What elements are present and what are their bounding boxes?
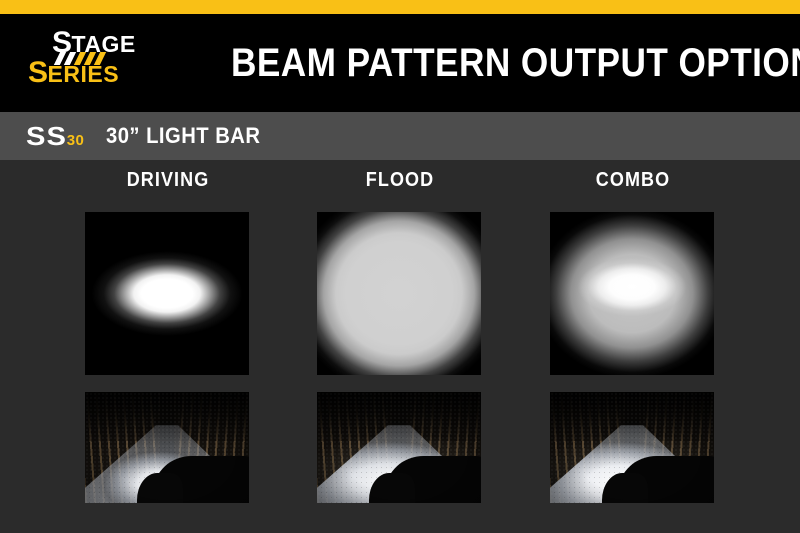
column-label-flood: FLOOD	[325, 170, 474, 190]
road-scene	[85, 392, 249, 503]
road-scene	[550, 392, 714, 503]
model-description: 30” LIGHT BAR	[106, 125, 260, 147]
model-badge: SS 30	[26, 123, 84, 149]
logo-series-capital: S	[28, 58, 48, 88]
road-scene	[317, 392, 481, 503]
model-number: 30	[67, 133, 85, 148]
photo-vignette	[550, 392, 714, 503]
stage-series-logo: S TAGE S ERIES	[22, 26, 187, 100]
beam-pattern-infographic: S TAGE S ERIES BEAM PATTERN OUTPUT OPTIO…	[0, 0, 800, 533]
logo-word-series: S ERIES	[28, 58, 119, 88]
model-subtitle-bar: SS 30 30” LIGHT BAR	[0, 112, 800, 160]
photo-vignette	[85, 392, 249, 503]
page-title: BEAM PATTERN OUTPUT OPTIONS	[231, 43, 800, 83]
column-label-driving: DRIVING	[93, 170, 242, 190]
beam-pattern-driving	[85, 212, 249, 375]
column-label-combo: COMBO	[558, 170, 707, 190]
beam-pattern-flood	[317, 212, 481, 375]
road-photo-driving	[85, 392, 249, 503]
header-bar: S TAGE S ERIES BEAM PATTERN OUTPUT OPTIO…	[0, 14, 800, 112]
top-accent-bar	[0, 0, 800, 14]
road-photo-flood	[317, 392, 481, 503]
road-photo-combo	[550, 392, 714, 503]
model-prefix: SS	[26, 123, 67, 149]
logo-series-rest: ERIES	[48, 63, 120, 86]
photo-vignette	[317, 392, 481, 503]
beam-pattern-combo	[550, 212, 714, 375]
